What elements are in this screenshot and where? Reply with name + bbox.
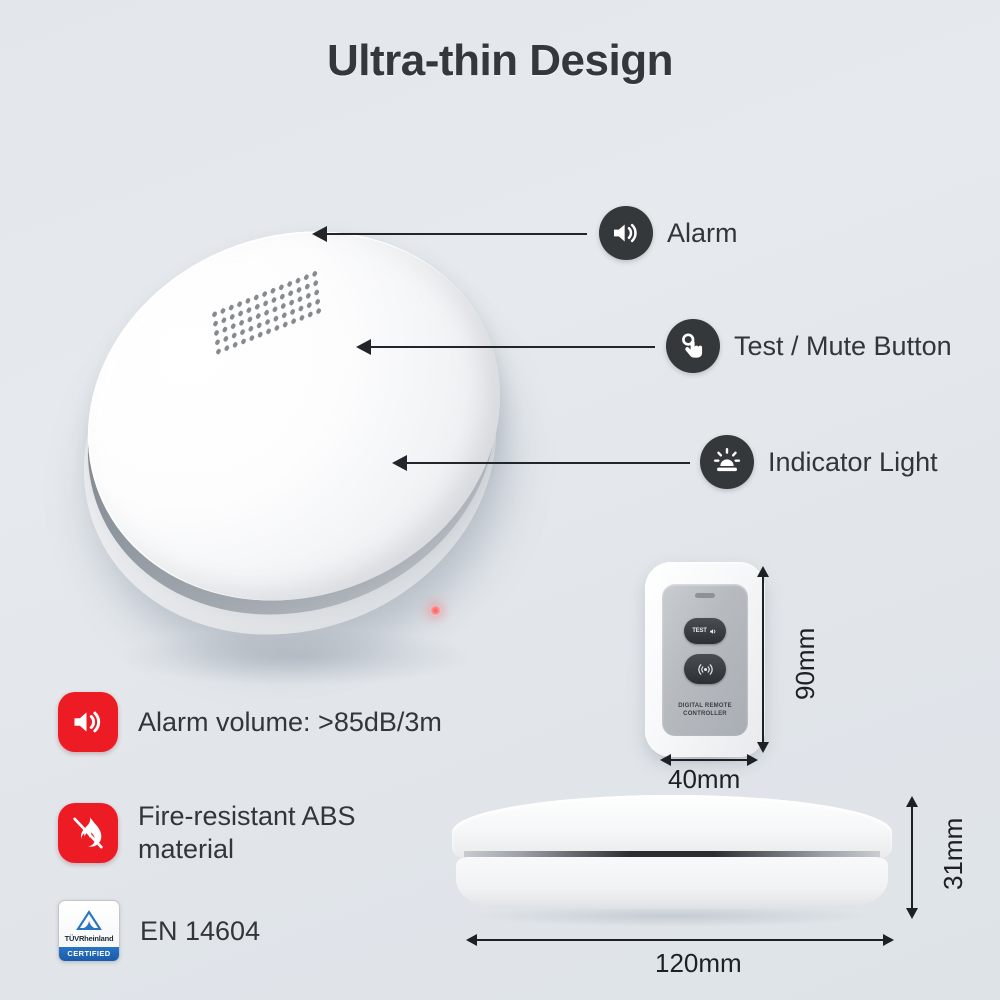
dim-line-120mm xyxy=(476,939,884,941)
callout-label-indicator-light: Indicator Light xyxy=(768,447,938,478)
siren-beacon-icon xyxy=(700,435,754,489)
callout-alarm: Alarm xyxy=(599,206,738,260)
callout-indicator-light: Indicator Light xyxy=(700,435,938,489)
feature-label-line2: material xyxy=(138,833,356,866)
dim-line-90mm xyxy=(762,570,764,742)
touch-hand-icon xyxy=(666,319,720,373)
remote-brand-line1: DIGITAL REMOTE xyxy=(662,702,748,710)
remote-lanyard-slot xyxy=(695,593,715,598)
feature-en-standard: TÜVRheinland CERTIFIED EN 14604 xyxy=(58,900,260,962)
remote-control-image: TEST DIGITAL REMOTE CONTROLLER xyxy=(645,562,765,757)
remote-test-button[interactable]: TEST xyxy=(684,618,726,644)
sideview-base xyxy=(456,857,888,909)
remote-test-button-label: TEST xyxy=(692,628,707,634)
tuv-badge-inner: TÜVRheinland xyxy=(65,901,114,947)
dim-arrow-right-120mm-icon xyxy=(883,934,894,946)
callout-label-test-mute: Test / Mute Button xyxy=(734,331,952,362)
remote-brand-line2: CONTROLLER xyxy=(662,710,748,718)
tuv-triangle-logo-icon xyxy=(74,909,104,933)
dim-line-31mm xyxy=(911,800,913,908)
detector-side-view-image xyxy=(452,795,892,915)
feature-label-en-standard: EN 14604 xyxy=(140,915,260,948)
sideview-top-cover xyxy=(452,795,892,857)
callout-test-mute: Test / Mute Button xyxy=(666,319,952,373)
red-indicator-led-icon xyxy=(430,605,441,616)
feature-label-line1: Fire-resistant ABS xyxy=(138,800,356,833)
tuv-brand-text: TÜVRheinland xyxy=(65,934,114,943)
dim-arrow-down-90mm-icon xyxy=(757,742,769,753)
page-title: Ultra-thin Design xyxy=(0,36,1000,86)
callout-label-alarm: Alarm xyxy=(667,218,738,249)
dim-label-remote-height: 90mm xyxy=(790,628,821,700)
tuv-certified-bar: CERTIFIED xyxy=(59,947,119,961)
feature-label-alarm-volume: Alarm volume: >85dB/3m xyxy=(138,706,442,739)
speaker-icon xyxy=(709,627,718,636)
speaker-icon xyxy=(58,692,118,752)
dim-label-detector-diameter: 120mm xyxy=(655,948,742,979)
feature-label-fire-resistant: Fire-resistant ABS material xyxy=(138,800,356,866)
dim-label-remote-width: 40mm xyxy=(668,764,740,795)
hero-drop-shadow xyxy=(118,628,478,686)
dim-arrow-down-31mm-icon xyxy=(906,908,918,919)
leader-line-indicator xyxy=(405,462,690,464)
flame-no-fire-icon xyxy=(58,803,118,863)
remote-brand-text: DIGITAL REMOTE CONTROLLER xyxy=(662,702,748,718)
speaker-icon xyxy=(599,206,653,260)
remote-faceplate: TEST DIGITAL REMOTE CONTROLLER xyxy=(662,584,748,736)
feature-fire-resistant: Fire-resistant ABS material xyxy=(58,800,356,866)
dim-line-40mm xyxy=(670,759,748,761)
smoke-detector-hero-image xyxy=(58,150,548,640)
remote-rf-button[interactable] xyxy=(684,654,726,684)
feature-alarm-volume: Alarm volume: >85dB/3m xyxy=(58,692,442,752)
wireless-signal-icon xyxy=(697,661,714,678)
detector-rim-highlight xyxy=(32,170,556,661)
tuv-rheinland-certified-badge-icon: TÜVRheinland CERTIFIED xyxy=(58,900,120,962)
leader-line-alarm xyxy=(325,233,587,235)
leader-line-test xyxy=(369,346,655,348)
dim-label-detector-height: 31mm xyxy=(938,818,969,890)
dim-arrow-right-40mm-icon xyxy=(747,754,758,766)
